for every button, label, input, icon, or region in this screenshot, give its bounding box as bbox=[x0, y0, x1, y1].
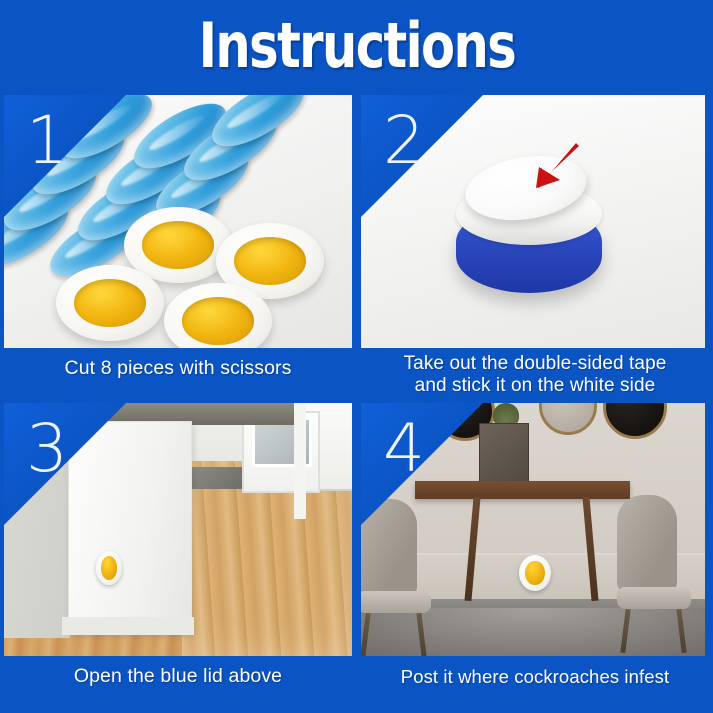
bait-gel bbox=[234, 237, 305, 284]
dishwasher-front-panel bbox=[68, 421, 192, 633]
step-2-photo: 2 bbox=[361, 95, 705, 348]
door-jamb bbox=[294, 403, 306, 519]
bait-gel bbox=[182, 297, 253, 344]
bait-gel bbox=[525, 561, 544, 585]
dining-chair bbox=[617, 495, 691, 653]
poster-title-bar: Instructions bbox=[0, 0, 713, 92]
step-1-caption: Cut 8 pieces with scissors bbox=[4, 348, 352, 380]
bait-disc-placed bbox=[519, 555, 551, 591]
chair-legs bbox=[617, 609, 691, 653]
step-1-photo: 1 bbox=[4, 95, 352, 348]
step-2-caption: Take out the double-sided tape and stick… bbox=[361, 348, 709, 397]
step-card-1: 1 Cut 8 pieces with scissors bbox=[4, 95, 352, 380]
cabinet-toe-kick bbox=[62, 617, 194, 635]
dining-chair bbox=[361, 499, 431, 656]
cabinet-side-panel bbox=[4, 433, 70, 638]
step-4-caption: Post it where cockroaches infest bbox=[361, 656, 709, 688]
bait-gel bbox=[74, 279, 145, 326]
chair-legs bbox=[361, 613, 431, 656]
bait-disc bbox=[56, 265, 164, 341]
dining-table-top bbox=[415, 481, 630, 499]
chair-back bbox=[361, 499, 417, 595]
decor-box bbox=[479, 423, 529, 487]
steps-grid: 1 Cut 8 pieces with scissors 2 bbox=[0, 92, 713, 713]
step-card-4: 4 Post it where cockroaches infest bbox=[361, 403, 709, 688]
step-card-3: 3 Open the blue lid above bbox=[4, 403, 352, 688]
chair-back bbox=[617, 495, 677, 591]
step-4-photo: 4 bbox=[361, 403, 705, 656]
step-2-caption-line1: Take out the double-sided tape bbox=[361, 353, 709, 375]
bait-gel bbox=[142, 221, 213, 268]
step-2-caption-line2: and stick it on the white side bbox=[361, 375, 709, 397]
instructions-poster: Instructions bbox=[0, 0, 713, 713]
chair-seat bbox=[617, 587, 691, 609]
step-3-caption: Open the blue lid above bbox=[4, 656, 352, 688]
chair-seat bbox=[361, 591, 431, 613]
page-title: Instructions bbox=[198, 15, 515, 77]
step-card-2: 2 Take out the double-sided tape and sti… bbox=[361, 95, 709, 397]
red-arrow-icon bbox=[529, 143, 583, 191]
bait-gel bbox=[101, 556, 117, 579]
step-3-photo: 3 bbox=[4, 403, 352, 656]
bait-disc-placed bbox=[96, 551, 122, 585]
